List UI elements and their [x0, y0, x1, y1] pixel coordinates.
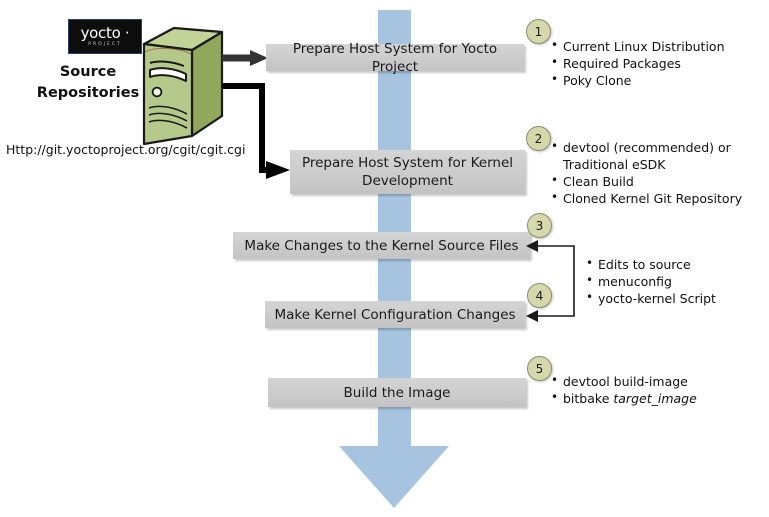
note-item: devtool build-image — [551, 373, 697, 390]
note-item: Poky Clone — [551, 72, 725, 89]
step-number-2: 2 — [526, 126, 551, 151]
note-line-1: devtool (recommended) or — [563, 140, 731, 155]
note-item: Clean Build — [551, 173, 742, 190]
step-number-3: 3 — [527, 213, 552, 238]
step-number-1: 1 — [526, 19, 551, 44]
step-box-2[interactable]: Prepare Host System for Kernel Developme… — [290, 150, 525, 194]
source-label-line1: Source — [28, 62, 148, 83]
note-item: Cloned Kernel Git Repository — [551, 190, 742, 207]
source-label-line2: Repositories — [28, 83, 148, 104]
step-number-5: 5 — [527, 356, 552, 381]
step-box-5[interactable]: Build the Image — [268, 378, 526, 407]
connector-source-to-step1 — [222, 48, 270, 68]
logo-wordmark: yocto · — [81, 26, 130, 40]
connector-bracket-steps-3-4 — [524, 238, 584, 328]
note-item: Required Packages — [551, 55, 725, 72]
step-number-4: 4 — [527, 283, 552, 308]
flow-arrow-head — [339, 446, 449, 508]
note-command-target: target_image — [613, 391, 696, 406]
note-item: Current Linux Distribution — [551, 38, 725, 55]
note-item: Edits to source — [586, 256, 716, 273]
notes-steps-3-4: Edits to source menuconfig yocto-kernel … — [586, 256, 716, 307]
notes-step-1: Current Linux Distribution Required Pack… — [551, 38, 725, 89]
step-box-4[interactable]: Make Kernel Configuration Changes — [265, 301, 525, 328]
note-line-2: Traditional eSDK — [563, 156, 742, 173]
note-item: yocto-kernel Script — [586, 290, 716, 307]
note-item: bitbake target_image — [551, 390, 697, 407]
connector-source-to-step2 — [222, 80, 297, 180]
step-box-1[interactable]: Prepare Host System for Yocto Project — [266, 44, 524, 71]
note-command: bitbake — [563, 391, 613, 406]
source-repositories-label: Source Repositories — [28, 62, 148, 104]
note-item: menuconfig — [586, 273, 716, 290]
note-item: devtool (recommended) or Traditional eSD… — [551, 139, 742, 173]
notes-step-5: devtool build-image bitbake target_image — [551, 373, 697, 407]
workflow-diagram: yocto · PROJECT Source Repositories Http… — [0, 0, 769, 517]
logo-subtitle: PROJECT — [88, 41, 121, 48]
notes-step-2: devtool (recommended) or Traditional eSD… — [551, 139, 742, 207]
server-tower-icon — [136, 26, 226, 150]
step-box-3[interactable]: Make Changes to the Kernel Source Files — [233, 232, 530, 259]
yocto-project-logo: yocto · PROJECT — [68, 19, 142, 54]
